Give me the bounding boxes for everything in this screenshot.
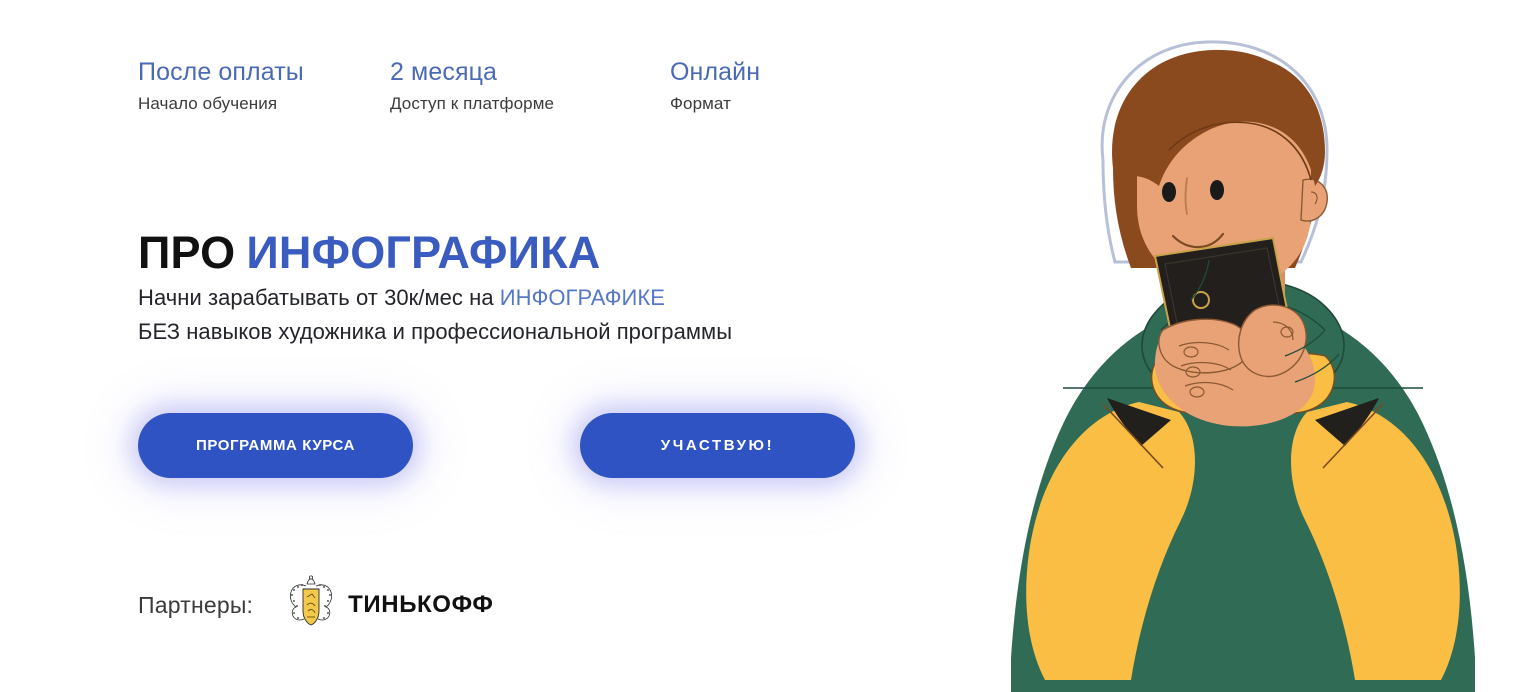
cta-button-row: ПРОГРАММА КУРСА УЧАСТВУЮ! [138, 413, 855, 478]
subtitle-highlight: ИНФОГРАФИКЕ [500, 285, 665, 310]
page-title-blue-part: ИНФОГРАФИКА [246, 227, 600, 278]
man-with-phone-illustration [955, 0, 1529, 692]
landing-hero: После оплаты Начало обучения 2 месяца До… [0, 0, 1529, 692]
course-program-button[interactable]: ПРОГРАММА КУРСА [138, 413, 413, 478]
page-title-dark-part: ПРО [138, 227, 235, 278]
subtitle-line-2: БЕЗ навыков художника и профессиональной… [138, 315, 732, 349]
info-label-start: Начало обучения [138, 93, 390, 115]
page-title: ПРОИНФОГРАФИКА [138, 226, 601, 280]
info-value-format: Онлайн [670, 57, 910, 88]
info-label-duration: Доступ к платформе [390, 93, 670, 115]
course-info-strip: После оплаты Начало обучения 2 месяца До… [138, 57, 910, 115]
info-column-format: Онлайн Формат [670, 57, 910, 115]
info-column-duration: 2 месяца Доступ к платформе [390, 57, 670, 115]
tinkoff-shield-icon [285, 575, 337, 634]
info-value-duration: 2 месяца [390, 57, 670, 88]
page-subtitle: Начни зарабатывать от 30к/мес на ИНФОГРА… [138, 281, 732, 349]
partner-tinkoff[interactable]: ТИНЬКОФФ [285, 575, 493, 634]
subtitle-line-1-text: Начни зарабатывать от 30к/мес на [138, 285, 500, 310]
info-label-format: Формат [670, 93, 910, 115]
info-value-start: После оплаты [138, 57, 390, 88]
partners-label: Партнеры: [138, 590, 253, 620]
info-column-start: После оплаты Начало обучения [138, 57, 390, 115]
subtitle-line-1: Начни зарабатывать от 30к/мес на ИНФОГРА… [138, 281, 732, 315]
tinkoff-wordmark: ТИНЬКОФФ [348, 591, 493, 619]
join-button[interactable]: УЧАСТВУЮ! [580, 413, 855, 478]
partners-section: Партнеры: [138, 575, 493, 634]
